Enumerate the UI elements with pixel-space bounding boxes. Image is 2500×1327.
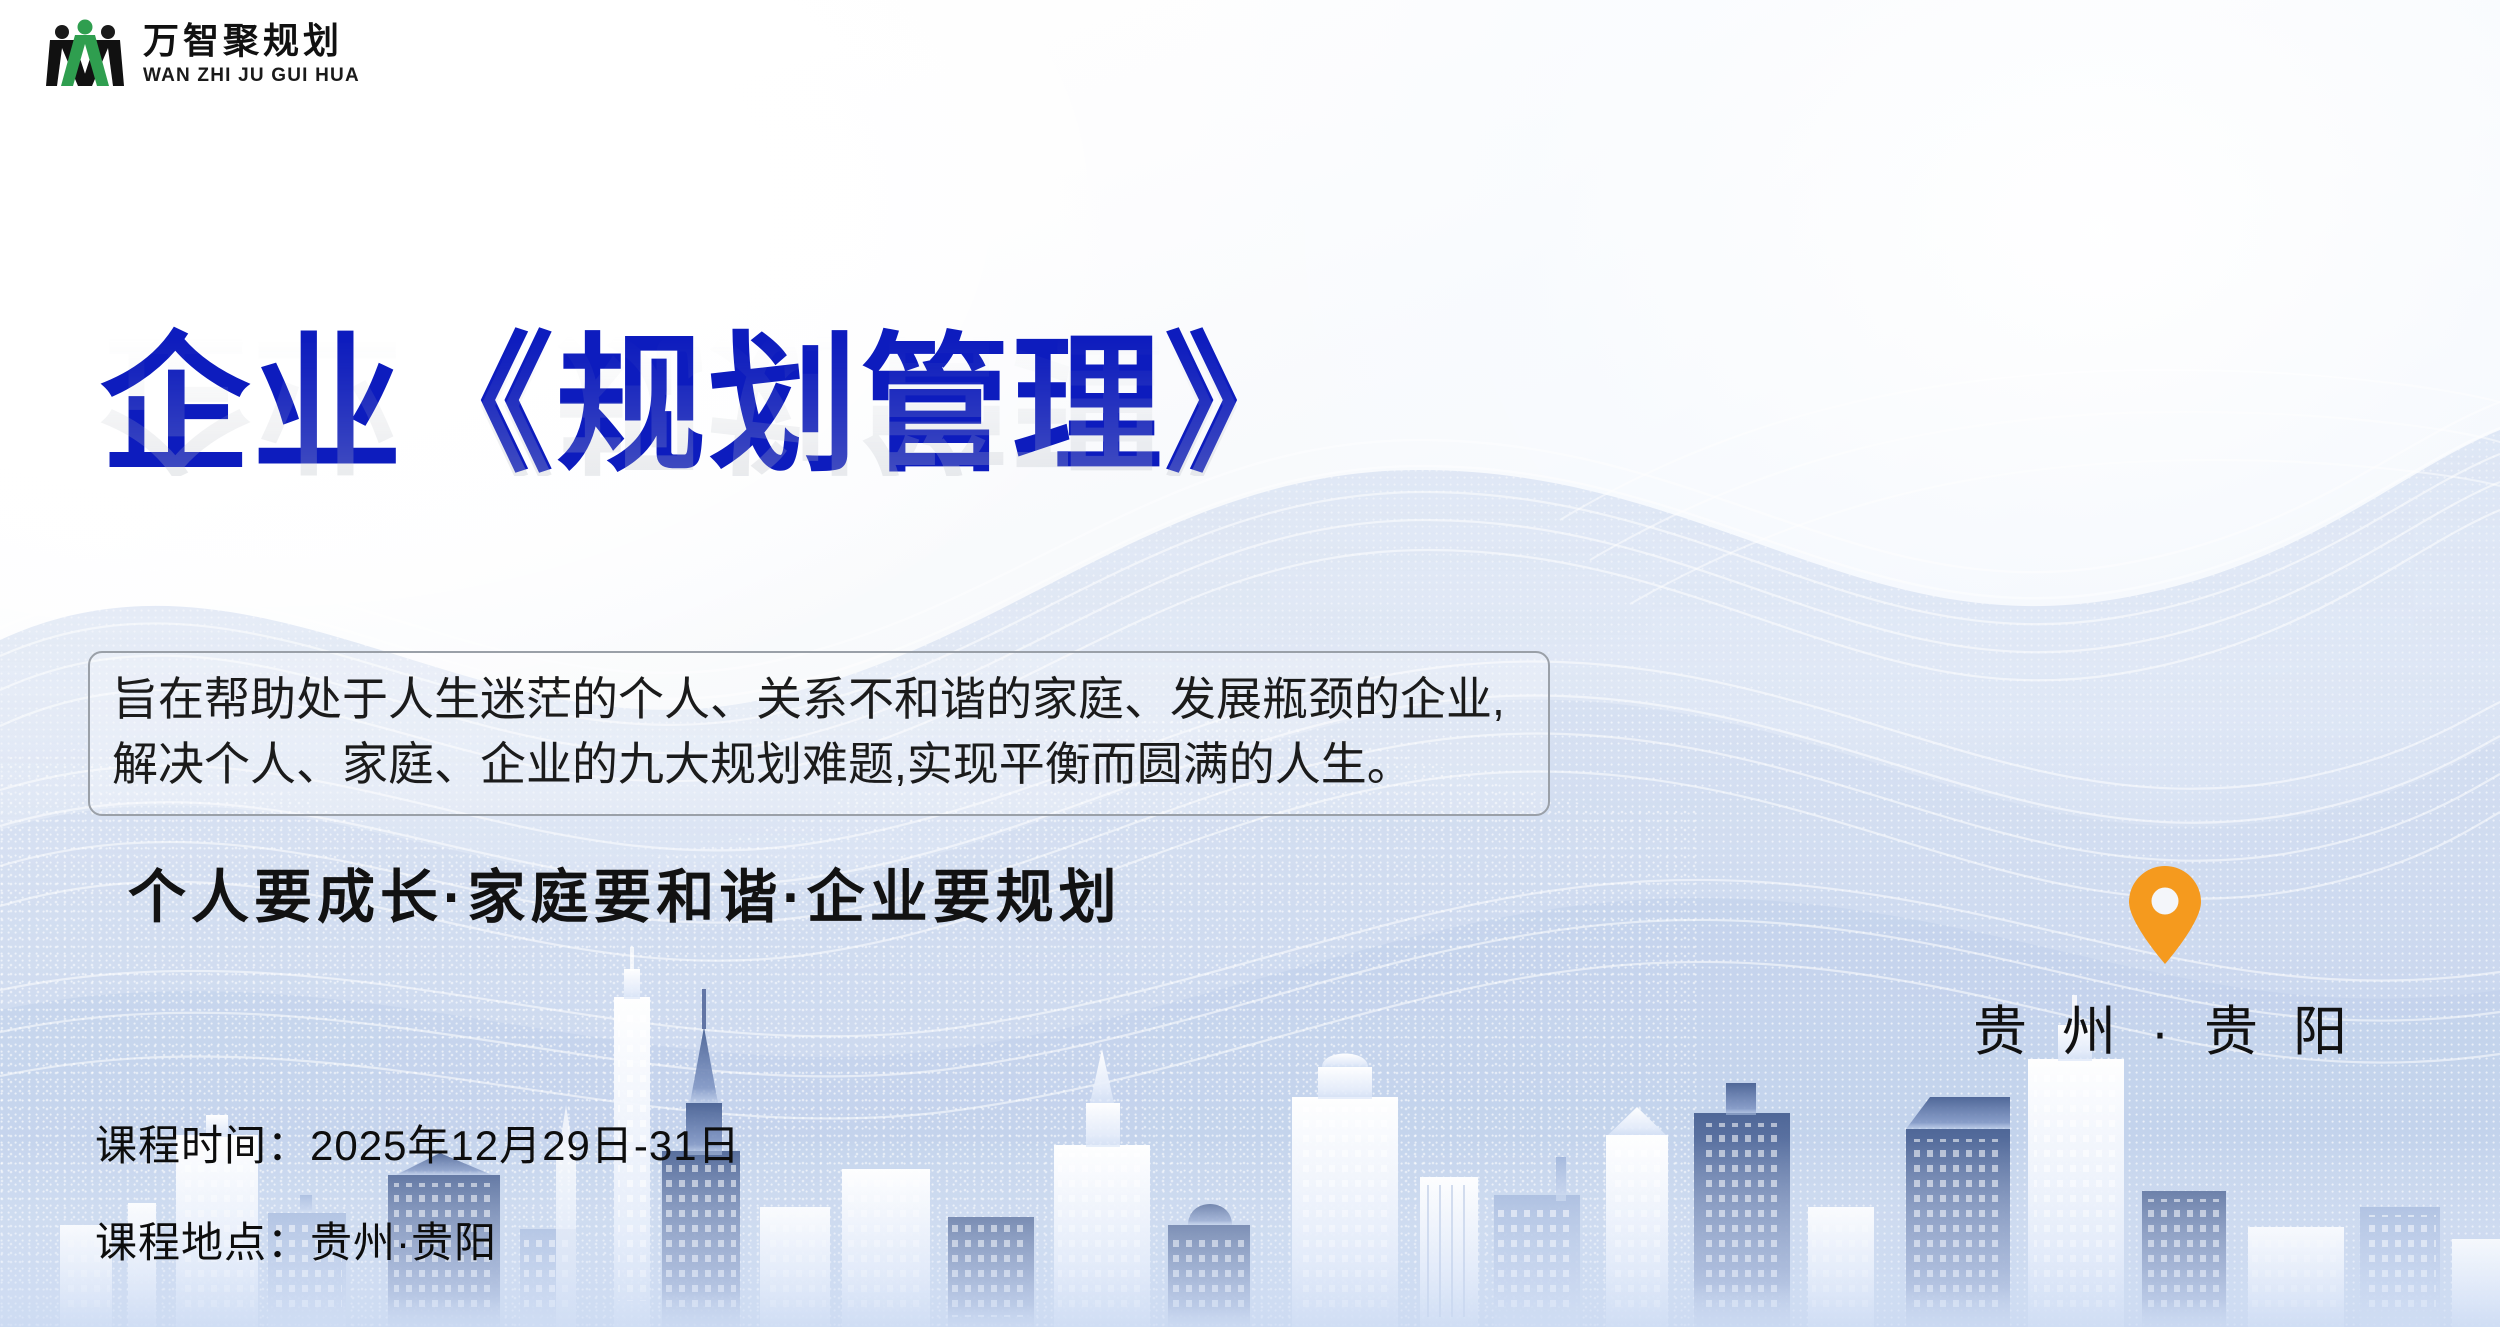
poster-canvas: 万智聚规划 WAN ZHI JU GUI HUA 企业《规划管理》 企业《规划管… (0, 0, 2500, 1327)
map-pin-icon (2126, 865, 2204, 965)
course-place: 课程地点：贵州·贵阳 (95, 1209, 741, 1270)
location-marker-group: 贵 州 · 贵 阳 (1955, 865, 2375, 1066)
course-time: 课程时间：2025年12月29日-31日 (95, 1112, 741, 1173)
page-title: 企业《规划管理》 (100, 330, 1316, 480)
description-line-1: 旨在帮助处于人生迷茫的个人、关系不和谐的家庭、发展瓶颈的企业, (112, 667, 1526, 732)
three-people-mark-icon (45, 18, 125, 90)
description-line-2: 解决个人、家庭、企业的九大规划难题,实现平衡而圆满的人生。 (112, 732, 1526, 797)
course-details: 课程时间：2025年12月29日-31日 课程地点：贵州·贵阳 (95, 1112, 741, 1270)
brand-logo[interactable]: 万智聚规划 WAN ZHI JU GUI HUA (45, 18, 360, 90)
slogan-text: 个人要成长·家庭要和谐·企业要规划 (128, 850, 1122, 934)
brand-name-cn: 万智聚规划 (143, 23, 360, 59)
hero-title-group: 企业《规划管理》 企业《规划管理》 (100, 330, 1316, 626)
description-box: 旨在帮助处于人生迷茫的个人、关系不和谐的家庭、发展瓶颈的企业, 解决个人、家庭、… (88, 651, 1550, 816)
location-label: 贵 州 · 贵 阳 (1955, 987, 2375, 1066)
brand-name-pinyin: WAN ZHI JU GUI HUA (143, 66, 360, 85)
brand-text: 万智聚规划 WAN ZHI JU GUI HUA (143, 23, 360, 85)
